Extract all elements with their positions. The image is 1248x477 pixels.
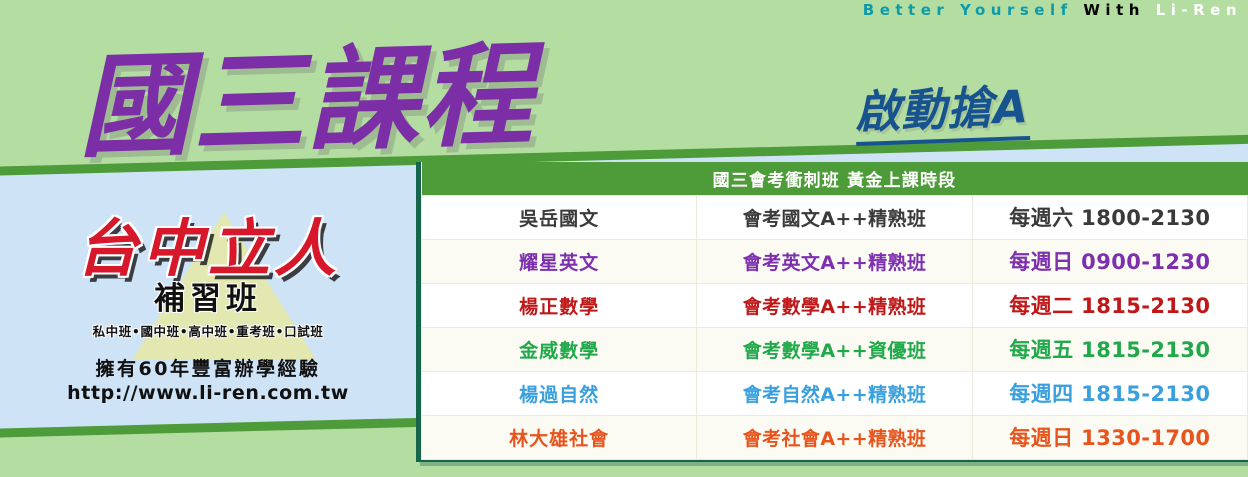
brand-tagline: Better Yourself With Li-Ren	[863, 1, 1242, 19]
cell-teacher: 耀星英文	[422, 239, 697, 283]
logo-subname: 補習班	[28, 282, 388, 318]
cell-course: 會考社會A++精熟班	[697, 415, 972, 459]
cell-teacher: 金威數學	[422, 327, 697, 371]
tagline-part-3: Li-Ren	[1156, 1, 1242, 19]
cell-time: 每週日 0900-1230	[972, 239, 1247, 283]
schedule-table: 國三會考衝刺班 黃金上課時段 吳岳國文會考國文A++精熟班每週六 1800-21…	[421, 162, 1248, 460]
page-title: 國三課程	[76, 5, 536, 180]
logo-class-list: 私中班•國中班•高中班•重考班•口試班	[28, 321, 388, 340]
schedule-table-container: 國三會考衝刺班 黃金上課時段 吳岳國文會考國文A++精熟班每週六 1800-21…	[416, 162, 1248, 462]
cell-course: 會考自然A++精熟班	[697, 371, 972, 415]
cell-time: 每週日 1330-1700	[972, 415, 1247, 459]
cell-time: 每週六 1800-2130	[972, 195, 1247, 239]
table-row: 楊正數學會考數學A++精熟班每週二 1815-2130	[422, 283, 1248, 327]
table-row: 吳岳國文會考國文A++精熟班每週六 1800-2130	[422, 195, 1248, 239]
cell-teacher: 楊過自然	[422, 371, 697, 415]
cell-course: 會考國文A++精熟班	[697, 195, 972, 239]
cell-teacher: 楊正數學	[422, 283, 697, 327]
schedule-header: 國三會考衝刺班 黃金上課時段	[422, 162, 1248, 195]
cell-teacher: 林大雄社會	[422, 415, 697, 459]
logo-name: 台中立人	[28, 218, 388, 280]
promo-banner: Better Yourself With Li-Ren 國三課程 啟動搶A 台中…	[0, 0, 1248, 477]
cell-time: 每週二 1815-2130	[972, 283, 1247, 327]
table-header-row: 國三會考衝刺班 黃金上課時段	[422, 162, 1248, 195]
table-body: 吳岳國文會考國文A++精熟班每週六 1800-2130耀星英文會考英文A++精熟…	[422, 195, 1248, 459]
table-row: 楊過自然會考自然A++精熟班每週四 1815-2130	[422, 371, 1248, 415]
tagline-part-1: Better Yourself	[863, 1, 1073, 19]
table-row: 金威數學會考數學A++資優班每週五 1815-2130	[422, 327, 1248, 371]
cell-time: 每週四 1815-2130	[972, 371, 1247, 415]
logo-experience: 擁有60年豐富辦學經驗	[28, 354, 388, 381]
cell-course: 會考英文A++精熟班	[697, 239, 972, 283]
cell-teacher: 吳岳國文	[422, 195, 697, 239]
cell-time: 每週五 1815-2130	[972, 327, 1247, 371]
school-logo: 台中立人 補習班 私中班•國中班•高中班•重考班•口試班 擁有60年豐富辦學經驗…	[28, 218, 388, 404]
page-subtitle: 啟動搶A	[854, 70, 1030, 146]
table-row: 林大雄社會會考社會A++精熟班每週日 1330-1700	[422, 415, 1248, 459]
cell-course: 會考數學A++精熟班	[697, 283, 972, 327]
tagline-part-2: With	[1083, 1, 1145, 19]
table-row: 耀星英文會考英文A++精熟班每週日 0900-1230	[422, 239, 1248, 283]
logo-website-url: http://www.li-ren.com.tw	[28, 382, 388, 404]
cell-course: 會考數學A++資優班	[697, 327, 972, 371]
